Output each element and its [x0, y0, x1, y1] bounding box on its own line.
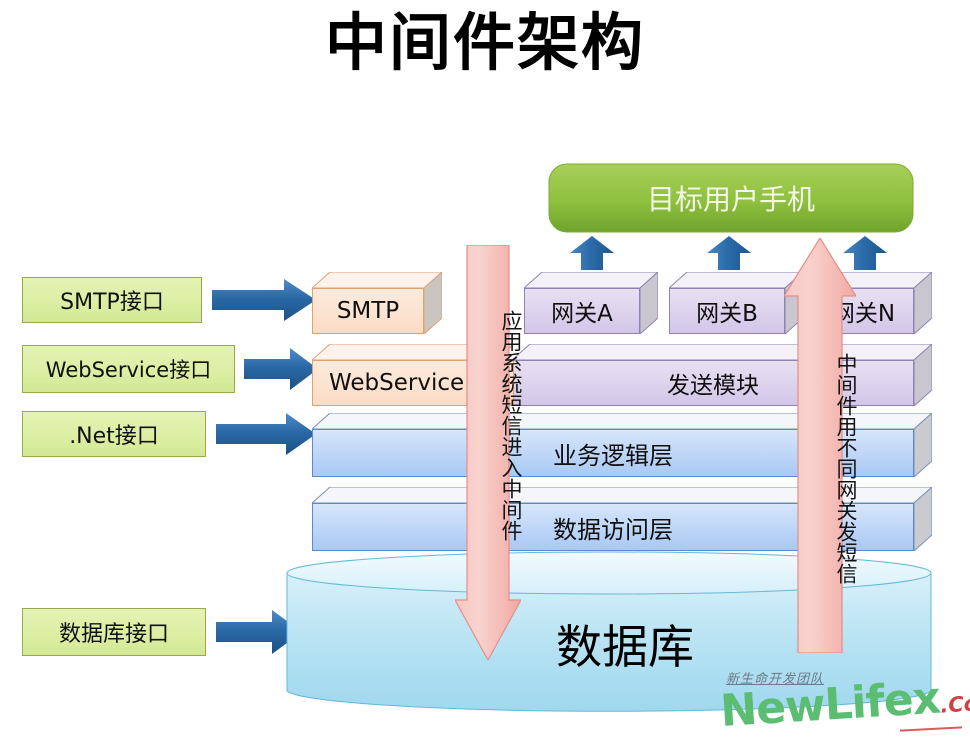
- interface-net[interactable]: .Net接口: [22, 411, 206, 457]
- block-smtp: SMTP: [312, 272, 442, 334]
- interface-smtp-label: SMTP接口: [60, 284, 164, 316]
- database-label: 数据库: [556, 611, 694, 677]
- block-gateway-a: 网关A: [524, 272, 658, 334]
- block-business-logic-layer-label: 业务逻辑层: [553, 436, 673, 471]
- net-flow-arrow: [216, 413, 316, 455]
- watermark-underline: [900, 726, 962, 731]
- interface-database-label: 数据库接口: [59, 616, 169, 648]
- interface-net-label: .Net接口: [69, 418, 159, 450]
- block-send-module-label: 发送模块: [667, 366, 759, 400]
- block-data-access-layer-label: 数据访问层: [553, 510, 673, 545]
- target-user-phone-box: 目标用户手机: [548, 163, 914, 233]
- interface-database[interactable]: 数据库接口: [22, 608, 206, 656]
- target-user-phone-label: 目标用户手机: [548, 163, 914, 233]
- interface-webservice[interactable]: WebService接口: [22, 345, 235, 393]
- gateway-b-up-arrow: [707, 236, 751, 270]
- flow-down-arrow: 应用系统短信进入中间件: [455, 245, 521, 660]
- webservice-flow-arrow: [244, 348, 318, 390]
- page-title: 中间件架构: [0, 6, 970, 80]
- block-gateway-b-face: 网关B: [669, 288, 785, 334]
- interface-webservice-label: WebService接口: [46, 354, 211, 384]
- block-gateway-b-label: 网关B: [696, 294, 758, 328]
- flow-up-arrow-label: 中间件用不同网关发短信: [784, 294, 856, 642]
- block-gateway-a-face: 网关A: [524, 288, 640, 334]
- block-webservice-label: WebService: [329, 370, 464, 396]
- block-smtp-label: SMTP: [337, 298, 399, 324]
- diagram-canvas: 中间件架构 目标用户手机: [0, 0, 970, 747]
- interface-smtp[interactable]: SMTP接口: [22, 277, 202, 323]
- block-send-module: 发送模块: [512, 344, 932, 406]
- watermark-logo-suffix: .Com: [940, 690, 970, 718]
- gateway-a-up-arrow: [570, 236, 614, 270]
- smtp-flow-arrow: [212, 279, 316, 321]
- block-gateway-a-label: 网关A: [551, 294, 613, 328]
- flow-up-arrow: 中间件用不同网关发短信: [784, 238, 856, 653]
- block-smtp-face: SMTP: [312, 288, 424, 334]
- block-gateway-b: 网关B: [669, 272, 803, 334]
- flow-down-arrow-label: 应用系统短信进入中间件: [455, 255, 521, 595]
